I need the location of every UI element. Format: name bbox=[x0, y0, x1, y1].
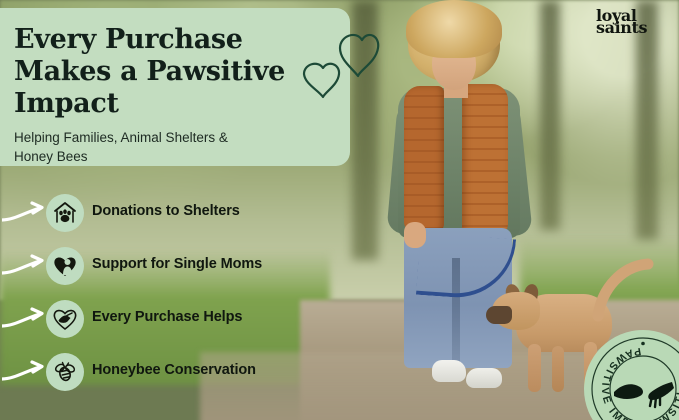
ad-banner: Every Purchase Makes a Pawsitive Impact … bbox=[0, 0, 679, 420]
woman-shoe-left bbox=[432, 360, 466, 382]
paw-house-icon bbox=[46, 194, 84, 232]
woman-vest-right-panel bbox=[462, 84, 508, 236]
list-item-label: Honeybee Conservation bbox=[92, 362, 256, 378]
tree-trunk bbox=[540, 0, 560, 230]
heart-outline-decor bbox=[296, 18, 380, 104]
arrow-icon bbox=[2, 359, 46, 385]
logo-line-2: saints bbox=[596, 20, 672, 35]
arrow-icon bbox=[2, 253, 46, 279]
list-item-label: Every Purchase Helps bbox=[92, 309, 242, 325]
list-item[interactable]: Support for Single Moms bbox=[0, 245, 300, 298]
woman-shoe-right bbox=[466, 368, 502, 388]
dog-tail bbox=[592, 258, 662, 328]
feature-list: Donations to Shelters Support for Single… bbox=[0, 192, 300, 404]
arrow-icon bbox=[2, 200, 46, 226]
subtitle: Helping Families, Animal Shelters & Hone… bbox=[14, 128, 264, 166]
honeybee-icon bbox=[46, 353, 84, 391]
heart-mother-child-icon bbox=[46, 247, 84, 285]
woman-vest-left-panel bbox=[404, 86, 444, 232]
brand-logo[interactable]: loyal saints bbox=[596, 8, 672, 35]
arrow-icon bbox=[2, 306, 46, 332]
dog-leg bbox=[552, 346, 564, 392]
list-item[interactable]: Donations to Shelters bbox=[0, 192, 300, 245]
dog-leg bbox=[528, 344, 541, 392]
list-item-label: Support for Single Moms bbox=[92, 256, 262, 272]
heart-giving-hand-icon bbox=[46, 300, 84, 338]
hand-reaching-paw-icon bbox=[614, 382, 674, 407]
page-title: Every Purchase Makes a Pawsitive Impact bbox=[14, 24, 344, 120]
list-item-label: Donations to Shelters bbox=[92, 203, 240, 219]
woman-hair-front bbox=[406, 0, 502, 58]
pawsitive-impact-seal: PAWSITIVE IMPACT PAWSITIVE IMPACT bbox=[584, 330, 679, 420]
status-badge: PAWSITIVE IMPACT PAWSITIVE IMPACT bbox=[584, 330, 679, 420]
dog-snout bbox=[486, 306, 512, 324]
list-item[interactable]: Honeybee Conservation bbox=[0, 351, 300, 404]
list-item[interactable]: Every Purchase Helps bbox=[0, 298, 300, 351]
